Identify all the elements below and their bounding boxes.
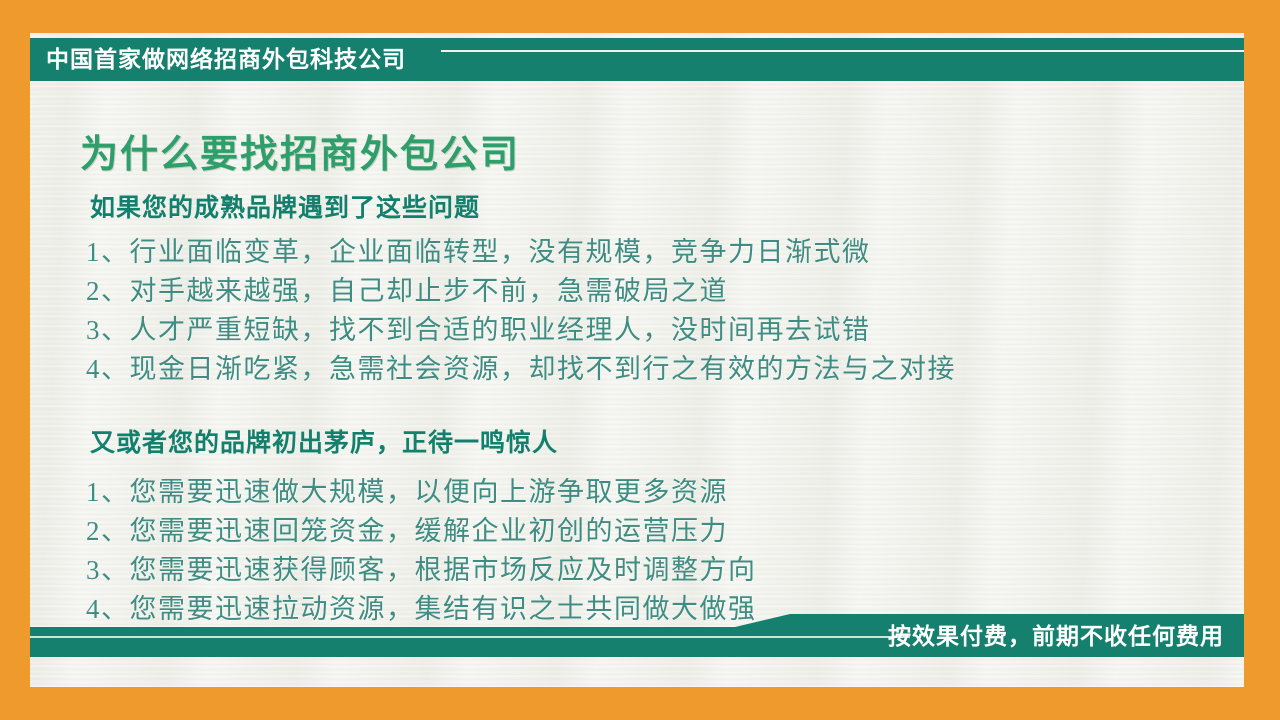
list-item: 1、行业面临变革，企业面临转型，没有规模，竞争力日渐式微 <box>86 233 956 272</box>
list-item: 2、您需要迅速回笼资金，缓解企业初创的运营压力 <box>86 512 757 551</box>
section-heading-2: 又或者您的品牌初出茅庐，正待一鸣惊人 <box>90 423 558 459</box>
header-band-title: 中国首家做网络招商外包科技公司 <box>46 41 406 77</box>
header-band-hairline <box>441 50 1244 52</box>
section-list-2: 1、您需要迅速做大规模，以便向上游争取更多资源 2、您需要迅速回笼资金，缓解企业… <box>86 473 757 629</box>
section-heading-1: 如果您的成熟品牌遇到了这些问题 <box>90 188 480 224</box>
list-item: 3、您需要迅速获得顾客，根据市场反应及时调整方向 <box>86 551 757 590</box>
section-list-1: 1、行业面临变革，企业面临转型，没有规模，竞争力日渐式微 2、对手越来越强，自己… <box>86 233 956 389</box>
list-item: 3、人才严重短缺，找不到合适的职业经理人，没时间再去试错 <box>86 311 956 350</box>
slide-root: 中国首家做网络招商外包科技公司 为什么要找招商外包公司 如果您的成熟品牌遇到了这… <box>0 0 1280 720</box>
paper-panel: 中国首家做网络招商外包科技公司 为什么要找招商外包公司 如果您的成熟品牌遇到了这… <box>30 33 1244 687</box>
list-item: 4、现金日渐吃紧，急需社会资源，却找不到行之有效的方法与之对接 <box>86 350 956 389</box>
footer-band-text: 按效果付费，前期不收任何费用 <box>888 621 1224 651</box>
page-title: 为什么要找招商外包公司 <box>80 123 520 178</box>
list-item: 2、对手越来越强，自己却止步不前，急需破局之道 <box>86 272 956 311</box>
list-item: 1、您需要迅速做大规模，以便向上游争取更多资源 <box>86 473 757 512</box>
list-item: 4、您需要迅速拉动资源，集结有识之士共同做大做强 <box>86 590 757 629</box>
footer-band-hairline <box>30 636 910 638</box>
